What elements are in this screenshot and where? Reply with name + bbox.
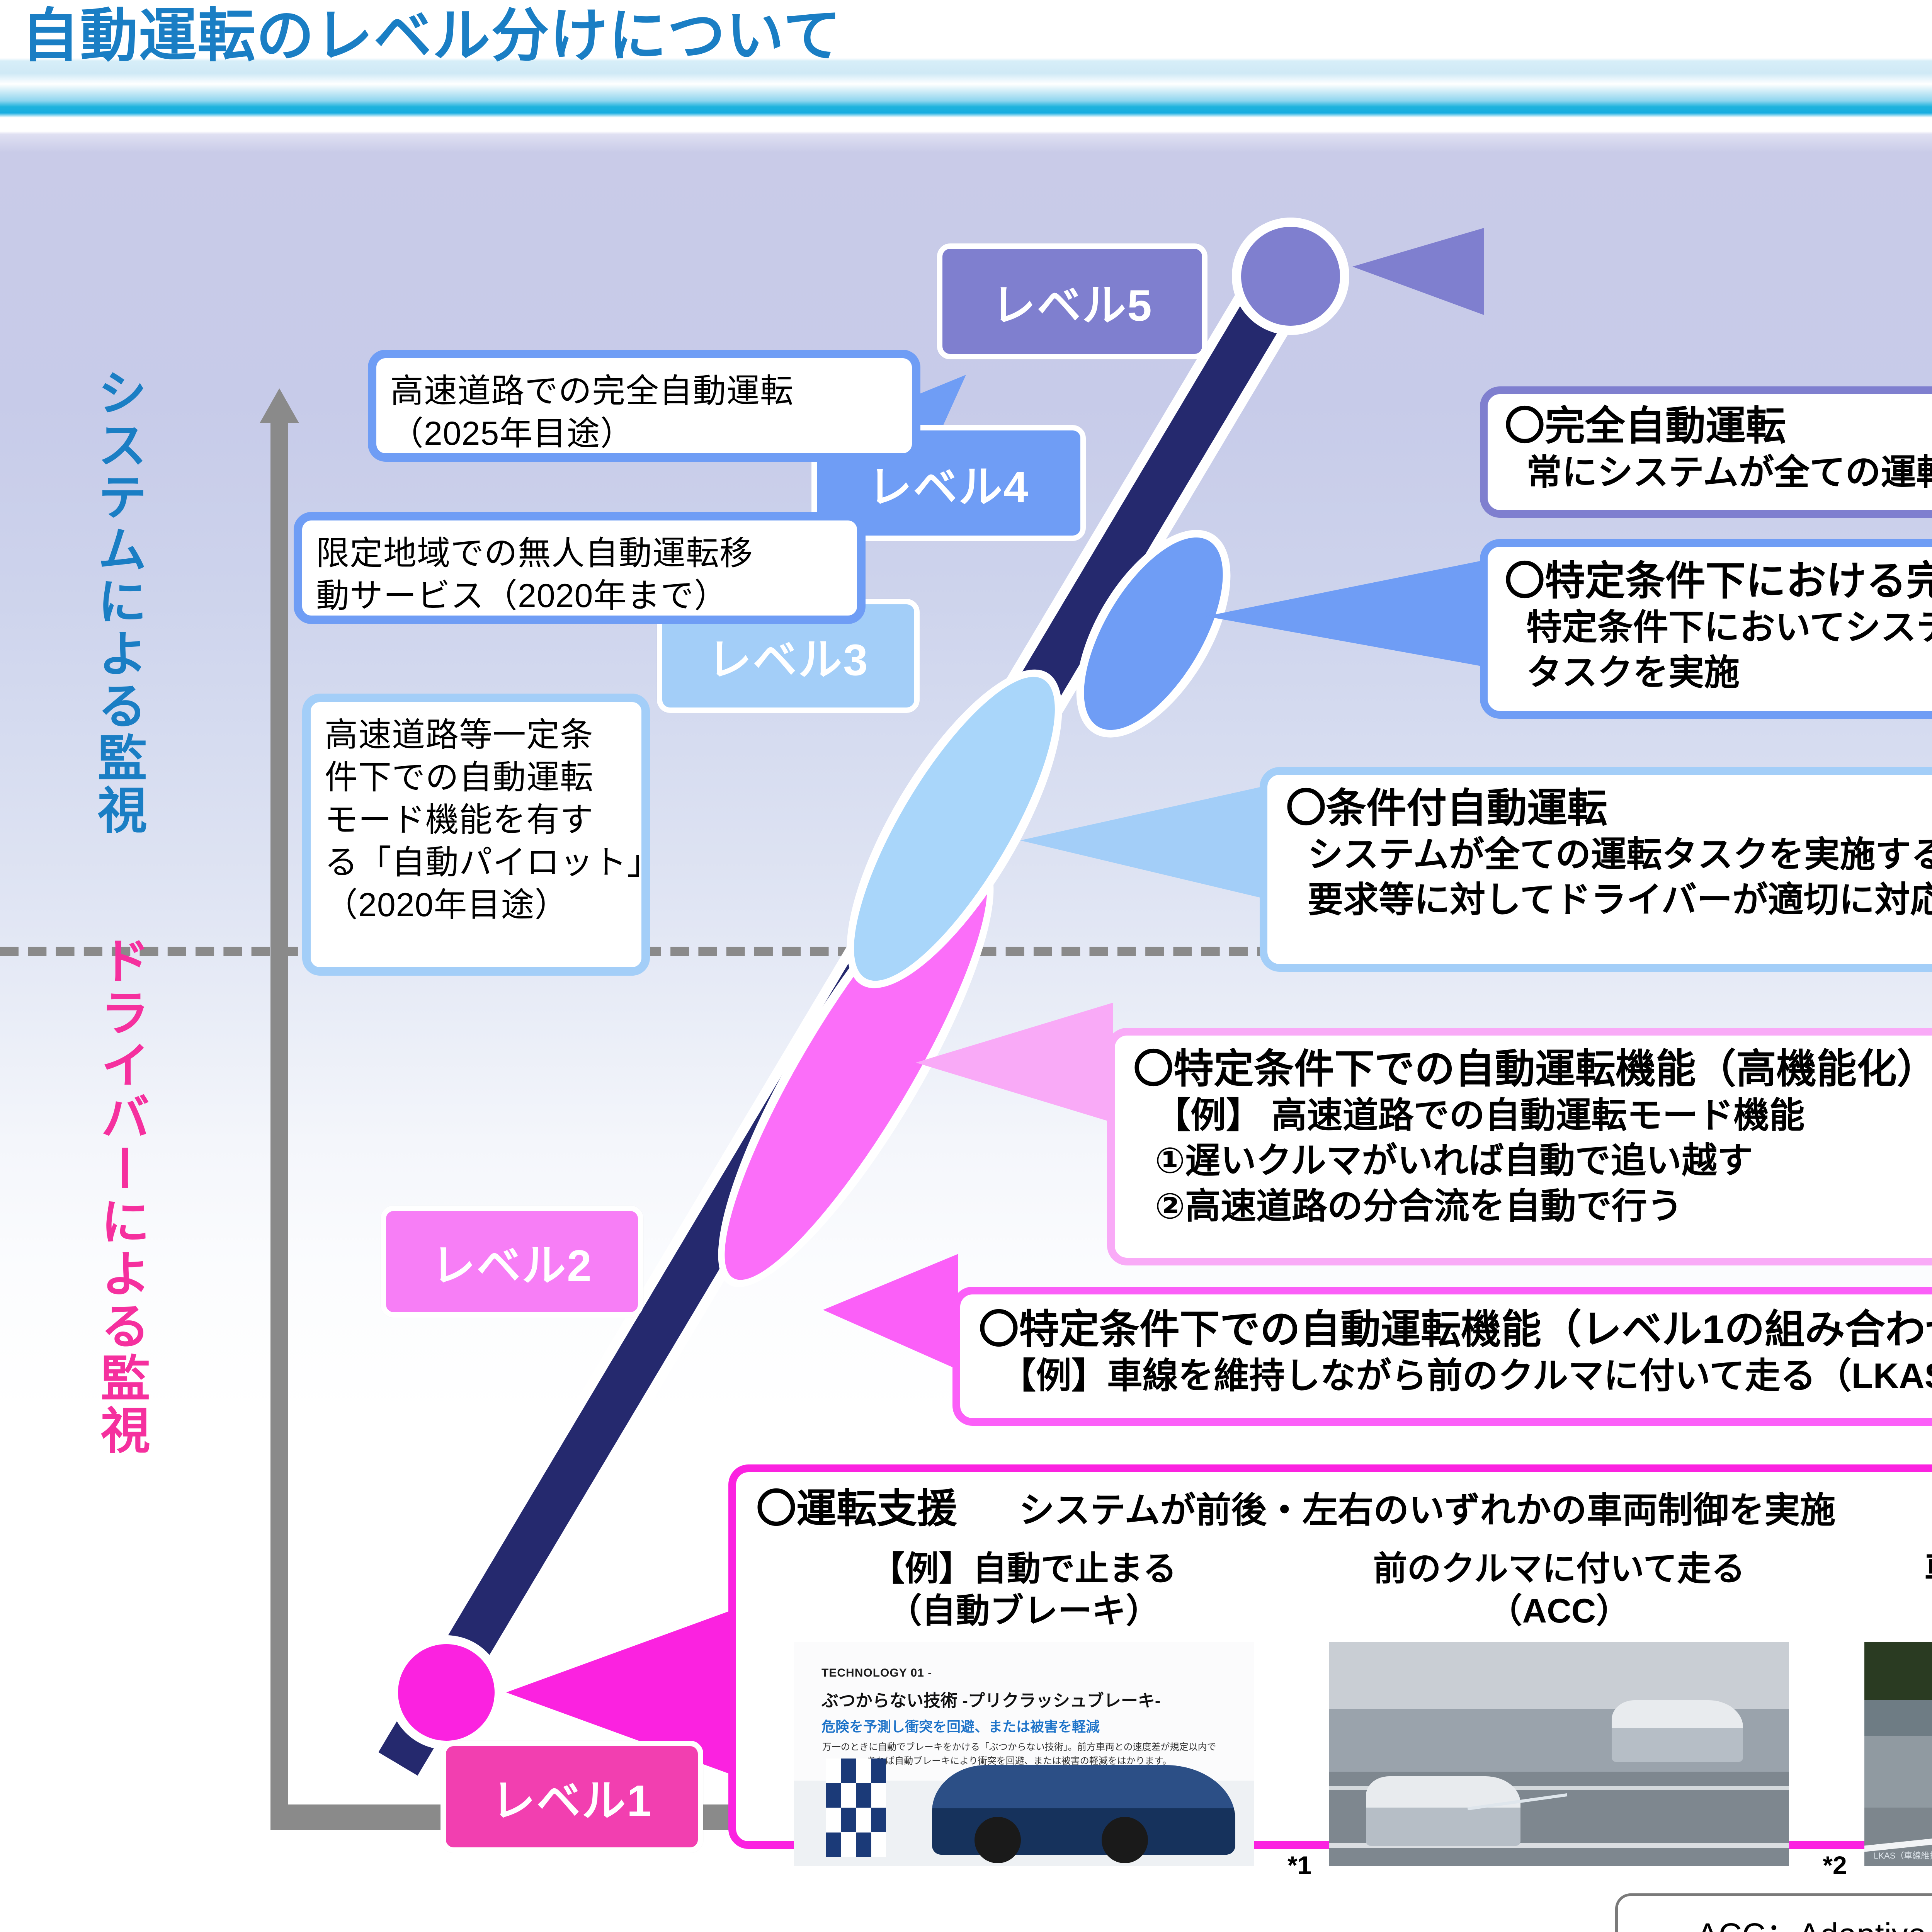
callout-line: 動サービス（2020年まで） <box>316 575 843 617</box>
example-photo-wrap: LKAS（車線維持支援システム）作動イメージ *3 <box>1827 1642 1932 1866</box>
photo-embedded-caption: LKAS（車線維持支援システム）作動イメージ <box>1874 1849 1932 1861</box>
lane-marking <box>1864 1791 1932 1854</box>
panel-heading: 〇運転支援 <box>756 1485 957 1533</box>
callout-level3-roadmap: 高速道路等一定条 件下での自動運転 モード機能を有す る「自動パイロット」 （2… <box>302 694 650 976</box>
panel-body: 常にシステムが全ての運転タスクを実施 <box>1505 450 1932 496</box>
diagram-canvas: システムによる監視 ドライバーによる監視 <box>0 153 1932 1932</box>
callout-level4-roadmap: 限定地域での無人自動運転移 動サービス（2020年まで） <box>294 512 866 624</box>
panel-body: 要求等に対してドライバーが適切に対応することが必要 <box>1286 878 1932 923</box>
callout-line: （2020年目途） <box>325 884 628 926</box>
panel-body: 特定条件下においてシステムが全ての運転 <box>1505 605 1932 651</box>
subaru-precrash-photo: TECHNOLOGY 01 - ぶつからない技術 -プリクラッシュブレーキ- 危… <box>794 1642 1254 1866</box>
panel-level4: 〇特定条件下における完全自動運転 特定条件下においてシステムが全ての運転 タスク… <box>1480 539 1932 719</box>
subaru-car-shape <box>932 1765 1235 1855</box>
callout-line: （2025年目途） <box>390 412 898 455</box>
example-caption-line2: （ACC） <box>1291 1590 1827 1632</box>
level1-example-autobrake: 【例】自動で止まる （自動ブレーキ） TECHNOLOGY 01 - ぶつからな… <box>756 1548 1291 1866</box>
panel-level5: 〇完全自動運転 常にシステムが全ての運転タスクを実施 <box>1480 386 1932 518</box>
example-photo-wrap: *2 <box>1291 1642 1827 1866</box>
photo-title: ぶつからない技術 -プリクラッシュブレーキ- <box>821 1687 1161 1711</box>
panel-body: ①遅いクルマがいれば自動で追い越す <box>1133 1138 1932 1184</box>
panel-body: 【例】車線を維持しながら前のクルマに付いて走る（LKAS+ACC） <box>979 1354 1932 1399</box>
callout-line: 限定地域での無人自動運転移 <box>316 532 843 575</box>
page-title: 自動運転のレベル分けについて <box>21 4 842 68</box>
panel-level1-header: 〇運転支援 システムが前後・左右のいずれかの車両制御を実施 <box>756 1485 1932 1534</box>
panel-level2-advanced: 〇特定条件下での自動運転機能（高機能化） 【例】 高速道路での自動運転モード機能… <box>1107 1028 1932 1265</box>
slide-page: 自動運転のレベル分けについて 国土交通省 【別添3】 <box>0 0 1932 1932</box>
page-header: 自動運転のレベル分けについて 国土交通省 【別添3】 <box>0 0 1932 153</box>
panel-body: タスクを実施 <box>1505 650 1932 696</box>
callout-line: 高速道路での完全自動運転 <box>390 370 898 412</box>
callout-line: モード機能を有す <box>325 799 628 841</box>
level1-example-lkas: 車線からはみ出さない （LKAS） LKAS（車線維持支援システム）作動イメージ… <box>1827 1548 1932 1866</box>
level1-examples: 【例】自動で止まる （自動ブレーキ） TECHNOLOGY 01 - ぶつからな… <box>756 1548 1932 1866</box>
panel-level1: 〇運転支援 システムが前後・左右のいずれかの車両制御を実施 【例】自動で止まる … <box>728 1464 1932 1849</box>
panel-heading: 〇特定条件下における完全自動運転 <box>1505 558 1932 605</box>
y-axis-label-driver: ドライバーによる監視 <box>96 935 145 1457</box>
level1-example-acc: 前のクルマに付いて走る （ACC） *2 <box>1291 1548 1827 1866</box>
badge-level1[interactable]: レベル1 <box>440 1741 703 1853</box>
panel-heading: 〇特定条件下での自動運転機能（高機能化） <box>1133 1046 1932 1093</box>
panel-body: ②高速道路の分合流を自動で行う <box>1133 1184 1932 1230</box>
honda-lkas-photo: LKAS（車線維持支援システム）作動イメージ <box>1864 1642 1932 1866</box>
example-photo-wrap: TECHNOLOGY 01 - ぶつからない技術 -プリクラッシュブレーキ- 危… <box>756 1642 1291 1866</box>
subaru-checker-banner <box>826 1759 886 1857</box>
panel-level2-combined: 〇特定条件下での自動運転機能（レベル1の組み合わせ） 【例】車線を維持しながら前… <box>952 1287 1932 1426</box>
example-caption-line2: （自動ブレーキ） <box>756 1590 1291 1632</box>
panel-level3: 〇条件付自動運転 システムが全ての運転タスクを実施するが、システムの介入 要求等… <box>1260 767 1932 972</box>
callout-line: 高速道路等一定条 <box>325 714 628 756</box>
example-caption-line1: 【例】自動で止まる <box>756 1548 1291 1590</box>
following-vehicle <box>1366 1776 1520 1846</box>
callout-level5-roadmap: 高速道路での完全自動運転 （2025年目途） <box>368 350 920 462</box>
panel-heading: 〇特定条件下での自動運転機能（レベル1の組み合わせ） <box>979 1306 1932 1354</box>
panel-heading: 〇条件付自動運転 <box>1286 785 1932 832</box>
callout-line: る「自動パイロット」 <box>325 841 628 884</box>
panel-heading: 〇完全自動運転 <box>1505 403 1932 450</box>
panel-body: システムが全ての運転タスクを実施するが、システムの介入 <box>1286 832 1932 878</box>
nissan-acc-photo <box>1329 1642 1789 1866</box>
callout-line: 件下での自動運転 <box>325 756 628 799</box>
panel-body: 【例】 高速道路での自動運転モード機能 <box>1133 1093 1932 1139</box>
example-caption-line1: 車線からはみ出さない <box>1827 1548 1932 1590</box>
photo-subtitle: 危険を予測し衝突を回避、または被害を軽減 <box>821 1716 1100 1736</box>
badge-level2[interactable]: レベル2 <box>381 1206 643 1318</box>
photo-kicker: TECHNOLOGY 01 - <box>821 1667 932 1680</box>
example-caption-line2: （LKAS） <box>1827 1590 1932 1632</box>
y-axis-line <box>270 415 288 1830</box>
acronym-legend: ACC：Adaptive Cruise Control, LKAS: Lane … <box>1615 1893 1932 1932</box>
y-axis-label-system: システムによる監視 <box>93 367 142 837</box>
example-caption-line1: 前のクルマに付いて走る <box>1291 1548 1827 1590</box>
lead-vehicle <box>1612 1700 1743 1762</box>
panel-subheading: システムが前後・左右のいずれかの車両制御を実施 <box>1019 1488 1835 1534</box>
badge-level5[interactable]: レベル5 <box>937 243 1207 359</box>
